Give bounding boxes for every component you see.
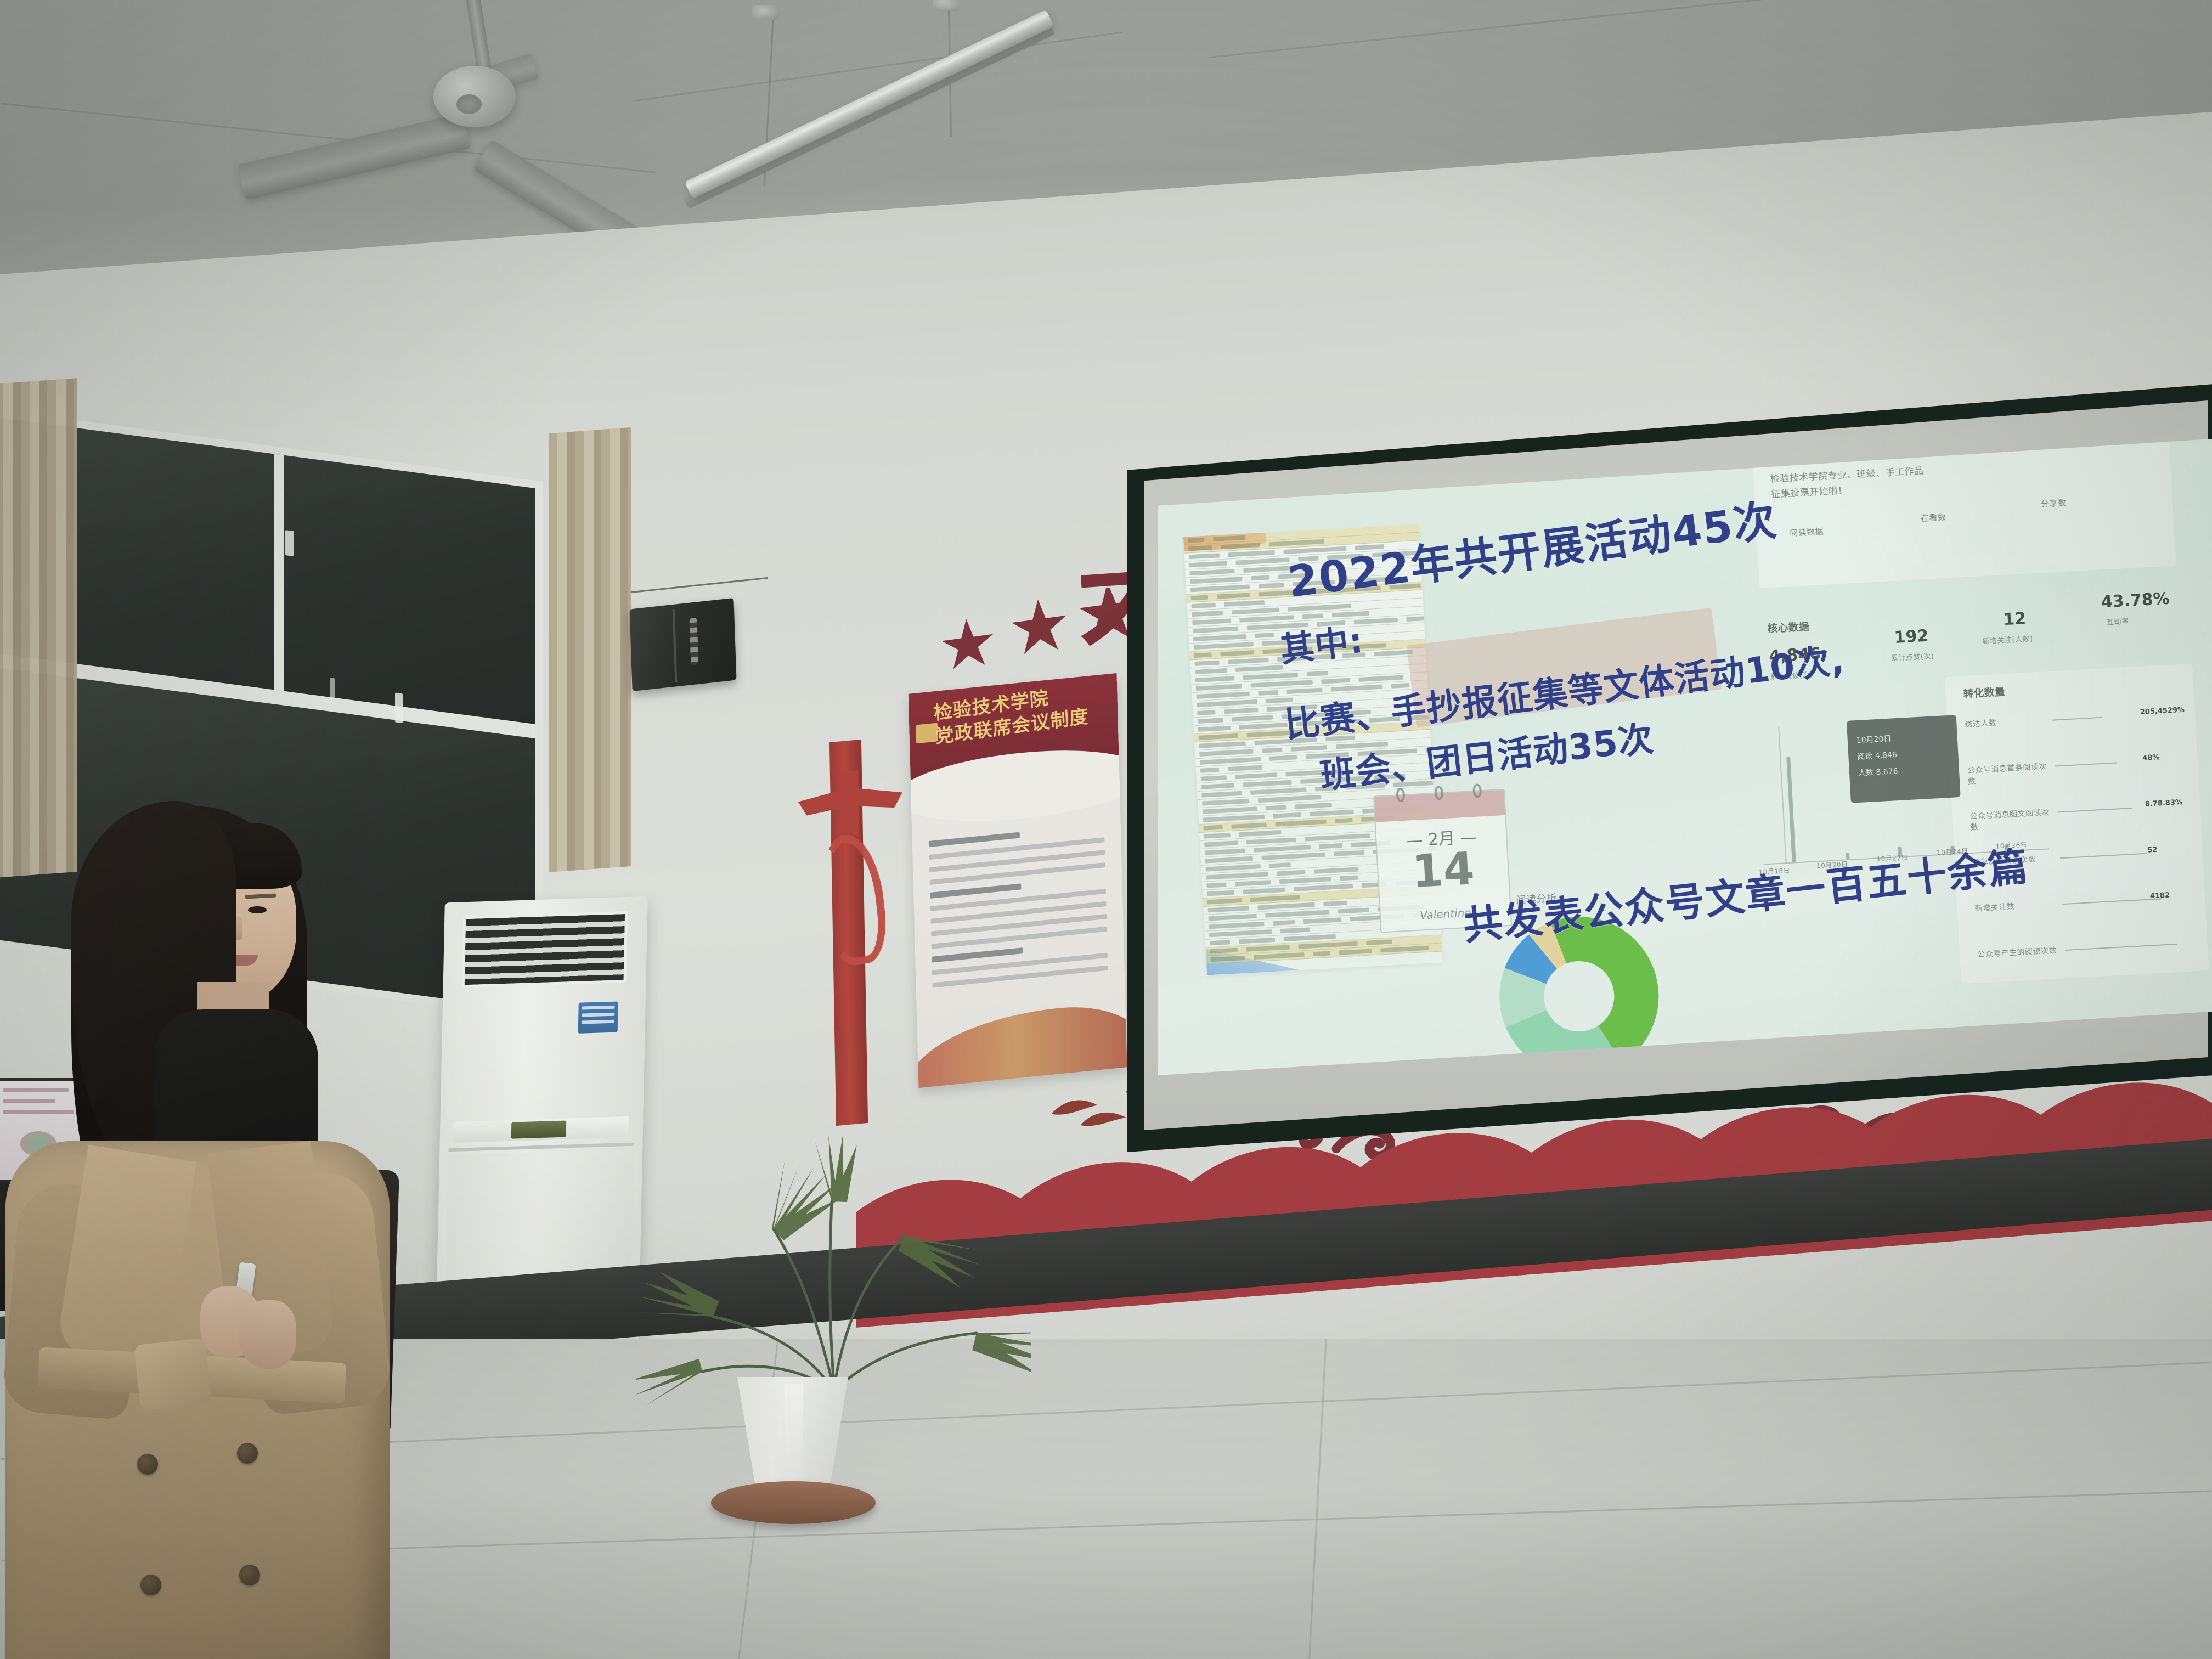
core-metric-label-1: 累计点赞(次) bbox=[1891, 650, 1934, 663]
dash-tab-2[interactable]: 分享数 bbox=[2040, 497, 2067, 510]
plant-saucer bbox=[711, 1481, 876, 1524]
photo-scene: 不 检验技术学院 党政联席会议制度 bbox=[0, 0, 2212, 1659]
slide-handwriting-line-2: 其中: bbox=[1277, 613, 1366, 672]
projected-slide: 检验技术学院专业、班级、手工作品 征集投票开始啦! 阅读数据 在看数 分享数 核… bbox=[1158, 439, 2212, 1075]
conversion-row-value: 52 bbox=[2147, 846, 2158, 855]
tooltip-line: 阅读 4,846 bbox=[1857, 746, 1950, 762]
conversion-row-value: 48% bbox=[2142, 753, 2160, 763]
energy-label bbox=[578, 1001, 618, 1033]
wall-speaker bbox=[629, 598, 736, 691]
core-metric-label-3: 互动率 bbox=[2106, 616, 2129, 627]
curtain-right bbox=[549, 427, 631, 872]
hand-right bbox=[239, 1300, 296, 1369]
dash-tab-0[interactable]: 阅读数据 bbox=[1790, 526, 1824, 539]
tooltip-line: 人数 8,676 bbox=[1858, 763, 1950, 778]
core-metric-value-1: 192 bbox=[1894, 627, 1929, 647]
core-metric-value-2: 12 bbox=[2002, 609, 2027, 629]
conversion-row-value: 4182 bbox=[2150, 891, 2170, 901]
conversion-title: 转化数量 bbox=[1963, 684, 2005, 701]
core-metric-label-2: 新增关注(人数) bbox=[1982, 633, 2033, 646]
core-metric-value-3: 43.78% bbox=[2101, 589, 2170, 612]
tooltip-line: 10月20日 bbox=[1856, 730, 1949, 746]
ac-display bbox=[511, 1120, 567, 1138]
dash-tab-1[interactable]: 在看数 bbox=[1921, 511, 1947, 524]
party-meeting-poster: 检验技术学院 党政联席会议制度 bbox=[909, 673, 1127, 1088]
poster-body-text bbox=[928, 816, 1108, 995]
core-data-title: 核心数据 bbox=[1767, 618, 1809, 635]
calendar-day: 14 bbox=[1378, 845, 1509, 897]
chart-tooltip: 10月20日阅读 4,846人数 8,676 bbox=[1847, 715, 1961, 803]
student-presenter bbox=[0, 790, 373, 1659]
ac-vent-grille bbox=[462, 911, 628, 988]
